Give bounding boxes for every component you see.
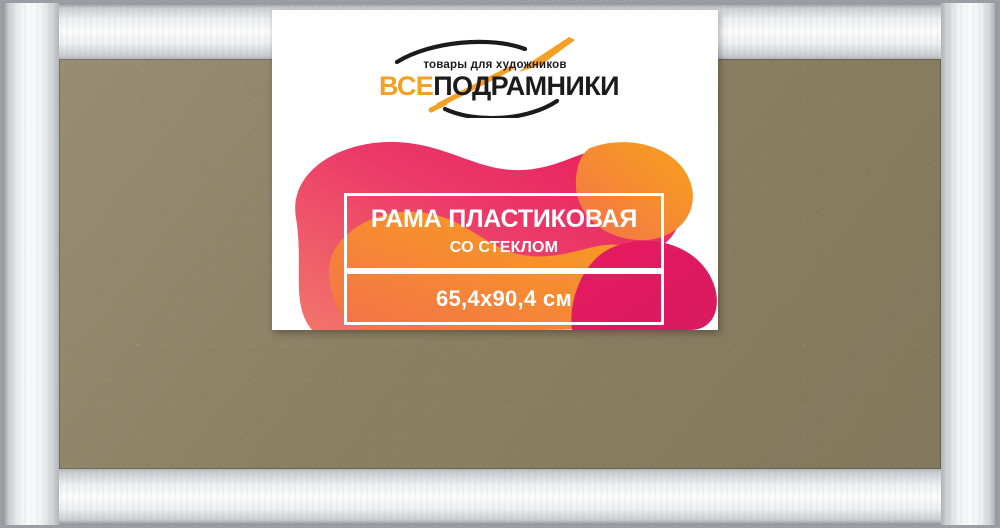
caption-subtitle: СО СТЕКЛОМ xyxy=(344,240,664,256)
logo-wordmark-podramniki: ПОДРАМНИКИ xyxy=(433,71,619,101)
logo-wordmark-vse: ВСЕ xyxy=(379,71,433,101)
promo-label: товары для художников ВСЕПОДРАМНИКИ xyxy=(272,10,718,330)
caption-size: 65,4x90,4 см xyxy=(344,288,664,310)
caption-title: РАМА ПЛАСТИКОВАЯ xyxy=(344,207,664,232)
frame-bevel-left xyxy=(3,3,59,525)
brand-logo: товары для художников ВСЕПОДРАМНИКИ xyxy=(272,32,718,118)
product-image: товары для художников ВСЕПОДРАМНИКИ xyxy=(0,0,1000,528)
logo-wordmark: ВСЕПОДРАМНИКИ xyxy=(379,73,611,100)
frame-bevel-right xyxy=(941,3,997,525)
logo-tagline: товары для художников xyxy=(379,59,611,71)
caption-block: РАМА ПЛАСТИКОВАЯ СО СТЕКЛОМ 65,4x90,4 см xyxy=(344,193,664,325)
frame-bevel-bottom xyxy=(3,469,997,525)
